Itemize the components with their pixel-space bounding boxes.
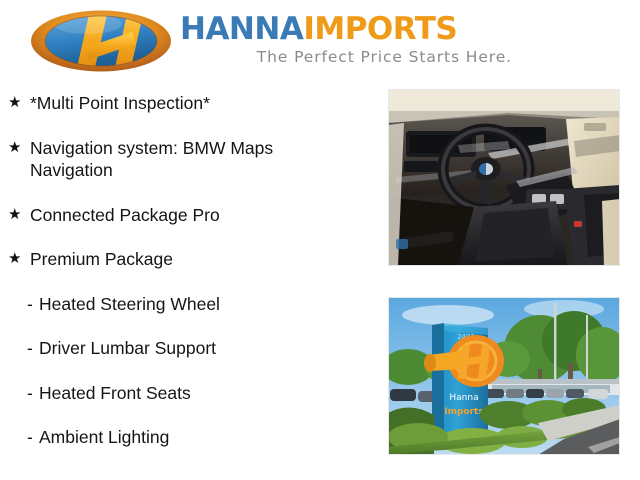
feature-label: *Multi Point Inspection* — [30, 92, 210, 115]
sign-text-imports: Imports — [444, 407, 483, 417]
brand-wordmark: HANNAIMPORTS The Perfect Price Starts He… — [180, 12, 520, 66]
feature-label: Heated Steering Wheel — [39, 293, 220, 316]
list-item: - Ambient Lighting — [0, 426, 380, 449]
dealership-sign-photo[interactable]: 2401 Hanna Imports — [388, 297, 620, 455]
hanna-h-monogram-emblem-icon — [28, 10, 174, 72]
star-icon: ★ — [8, 248, 30, 270]
feature-list: ★ *Multi Point Inspection* ★ Navigation … — [0, 92, 380, 471]
list-item: ★ Premium Package — [0, 248, 380, 271]
brand-name-hanna: HANNA — [180, 11, 303, 47]
feature-label: Navigation system: BMW Maps Navigation — [30, 137, 302, 182]
brand-name-imports: IMPORTS — [303, 11, 457, 47]
feature-label: Premium Package — [30, 248, 173, 271]
list-item: ★ Navigation system: BMW Maps Navigation — [0, 137, 380, 182]
vehicle-interior-photo[interactable] — [388, 89, 620, 266]
star-icon: ★ — [8, 204, 30, 226]
star-icon: ★ — [8, 137, 30, 159]
dash-icon: - — [27, 382, 39, 405]
dash-icon: - — [27, 337, 39, 360]
star-icon: ★ — [8, 92, 30, 114]
list-item: - Driver Lumbar Support — [0, 337, 380, 360]
list-item: ★ *Multi Point Inspection* — [0, 92, 380, 115]
dash-icon: - — [27, 293, 39, 316]
list-item: - Heated Front Seats — [0, 382, 380, 405]
list-item: - Heated Steering Wheel — [0, 293, 380, 316]
dash-icon: - — [27, 426, 39, 449]
list-item: ★ Connected Package Pro — [0, 204, 380, 227]
feature-label: Connected Package Pro — [30, 204, 220, 227]
listing-slide: HANNAIMPORTS The Perfect Price Starts He… — [0, 0, 640, 480]
brand-tagline: The Perfect Price Starts Here. — [180, 48, 520, 66]
feature-label: Ambient Lighting — [39, 426, 169, 449]
feature-label: Driver Lumbar Support — [39, 337, 216, 360]
sign-text-hanna: Hanna — [449, 393, 478, 403]
feature-label: Heated Front Seats — [39, 382, 191, 405]
dealer-header: HANNAIMPORTS The Perfect Price Starts He… — [0, 0, 640, 84]
